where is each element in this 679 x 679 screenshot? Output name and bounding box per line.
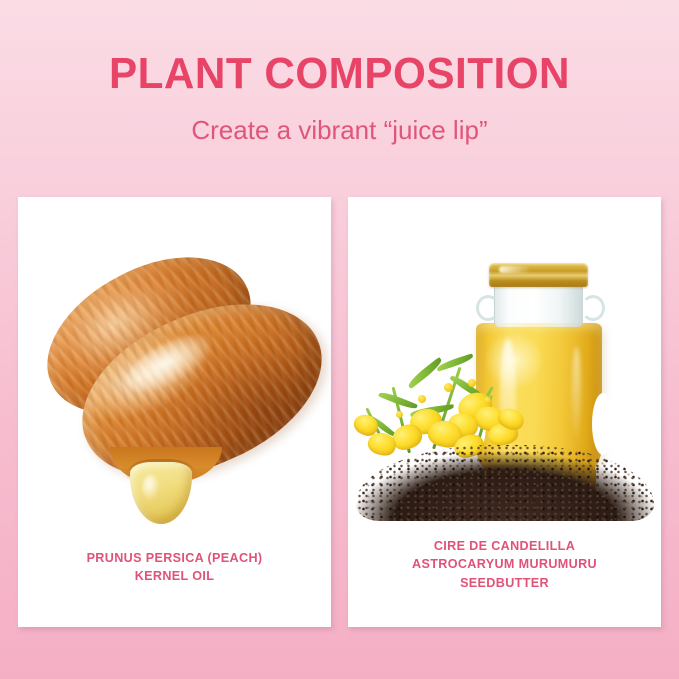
oil-drip-droplet	[130, 462, 192, 524]
oil-drip-highlight	[142, 475, 160, 501]
rapeseed-flower-bud	[484, 397, 491, 404]
jar-gold-lid	[489, 263, 588, 287]
rapeseed-flower-bud	[418, 395, 426, 403]
page-header: PLANT COMPOSITION Create a vibrant “juic…	[0, 0, 679, 190]
almond-illustration	[18, 197, 331, 542]
jar-clip-left	[476, 295, 500, 321]
seed-scatter	[364, 497, 644, 519]
jar-clip-right	[581, 295, 605, 321]
jar-waist-right	[592, 393, 614, 455]
jar-highlight-right	[572, 347, 581, 439]
page-title: PLANT COMPOSITION	[14, 52, 666, 96]
rapeseed-flower-bud	[444, 383, 453, 392]
ingredient-card-candelilla-murumuru: CIRE DE CANDELILLA ASTROCARYUM MURUMURU …	[348, 197, 661, 627]
ingredient-card-peach-kernel-oil: PRUNUS PERSICA (PEACH) KERNEL OIL	[18, 197, 331, 627]
rapeseed-flower-bud	[396, 411, 403, 418]
page-subtitle: Create a vibrant “juice lip”	[0, 116, 679, 146]
ingredient-caption-candelilla-murumuru: CIRE DE CANDELILLA ASTROCARYUM MURUMURU …	[356, 537, 653, 592]
jar-neck	[494, 285, 583, 327]
ingredient-caption-peach-kernel-oil: PRUNUS PERSICA (PEACH) KERNEL OIL	[26, 549, 323, 586]
rapeseed-flower-bud	[468, 379, 476, 387]
oil-jar-illustration	[348, 197, 661, 542]
